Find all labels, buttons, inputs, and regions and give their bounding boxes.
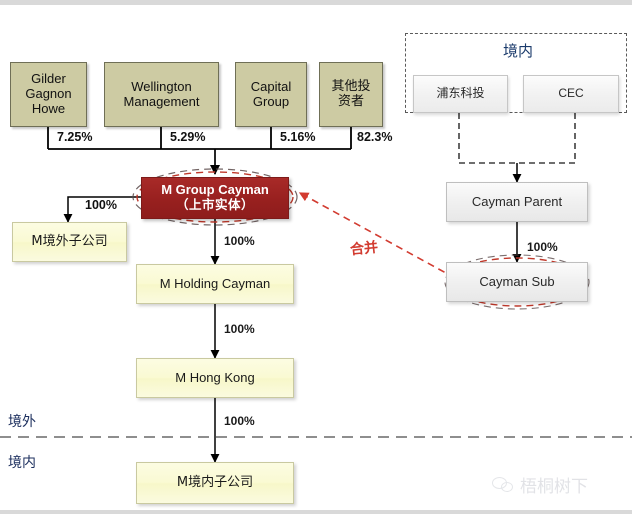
percent-other: 82.3% [357, 130, 392, 144]
watermark-label: 梧桐树下 [520, 472, 588, 497]
shareholder-wellington[interactable]: Wellington Management [104, 62, 219, 127]
domestic-member-pudong-keto-label: 浦东科投 [436, 87, 484, 101]
m-hong-kong[interactable]: M Hong Kong [136, 358, 294, 398]
shareholder-gilder[interactable]: Gilder Gagnon Howe [10, 62, 87, 127]
m-hong-kong-label: M Hong Kong [175, 371, 255, 386]
cayman-parent[interactable]: Cayman Parent [446, 182, 588, 222]
m-domestic-subsidiary-label: M境内子公司 [177, 476, 253, 491]
percent-offshore-sub: 100% [85, 198, 117, 212]
percent-wellington: 5.29% [170, 130, 205, 144]
domestic-member-cec[interactable]: CEC [523, 75, 619, 113]
shareholder-capital[interactable]: Capital Group [235, 62, 307, 127]
m-offshore-subsidiary[interactable]: M境外子公司 [12, 222, 127, 262]
watermark: 梧桐树下 [492, 472, 588, 497]
percent-capital: 5.16% [280, 130, 315, 144]
merge-annotation-label: 合并 [349, 237, 379, 260]
zone-label-offshore: 境外 [8, 411, 36, 431]
percent-gilder: 7.25% [57, 130, 92, 144]
org-chart-canvas: Gilder Gagnon Howe Wellington Management… [0, 0, 632, 514]
shareholder-gilder-label: Gilder Gagnon Howe [25, 72, 71, 117]
wechat-icon [492, 476, 514, 494]
cayman-sub-label: Cayman Sub [479, 275, 554, 290]
m-domestic-subsidiary[interactable]: M境内子公司 [136, 462, 294, 504]
shareholder-other-label: 其他投 资者 [331, 80, 370, 110]
percent-to-m-holding: 100% [224, 234, 255, 248]
domestic-member-cec-label: CEC [558, 87, 583, 101]
percent-to-m-domestic-sub: 100% [224, 414, 255, 428]
listed-entity-line2: （上市实体） [176, 198, 254, 212]
domestic-group-title: 境内 [503, 40, 533, 61]
m-holding-cayman[interactable]: M Holding Cayman [136, 264, 294, 304]
percent-to-cayman-sub: 100% [527, 240, 558, 254]
zone-label-onshore: 境内 [8, 452, 36, 472]
m-holding-cayman-label: M Holding Cayman [160, 277, 271, 292]
listed-entity-m-group-cayman[interactable]: M Group Cayman （上市实体） [141, 177, 289, 219]
cayman-parent-label: Cayman Parent [472, 195, 562, 210]
top-edge-band [0, 0, 632, 5]
listed-entity-line1: M Group Cayman [161, 183, 269, 198]
cayman-sub[interactable]: Cayman Sub [446, 262, 588, 302]
domestic-member-pudong-keto[interactable]: 浦东科投 [413, 75, 508, 113]
shareholder-wellington-label: Wellington Management [124, 80, 200, 110]
shareholder-capital-label: Capital Group [251, 80, 291, 110]
m-offshore-subsidiary-label: M境外子公司 [31, 235, 107, 250]
percent-to-m-hong-kong: 100% [224, 322, 255, 336]
bottom-edge-band [0, 510, 632, 514]
shareholder-other[interactable]: 其他投 资者 [319, 62, 383, 127]
